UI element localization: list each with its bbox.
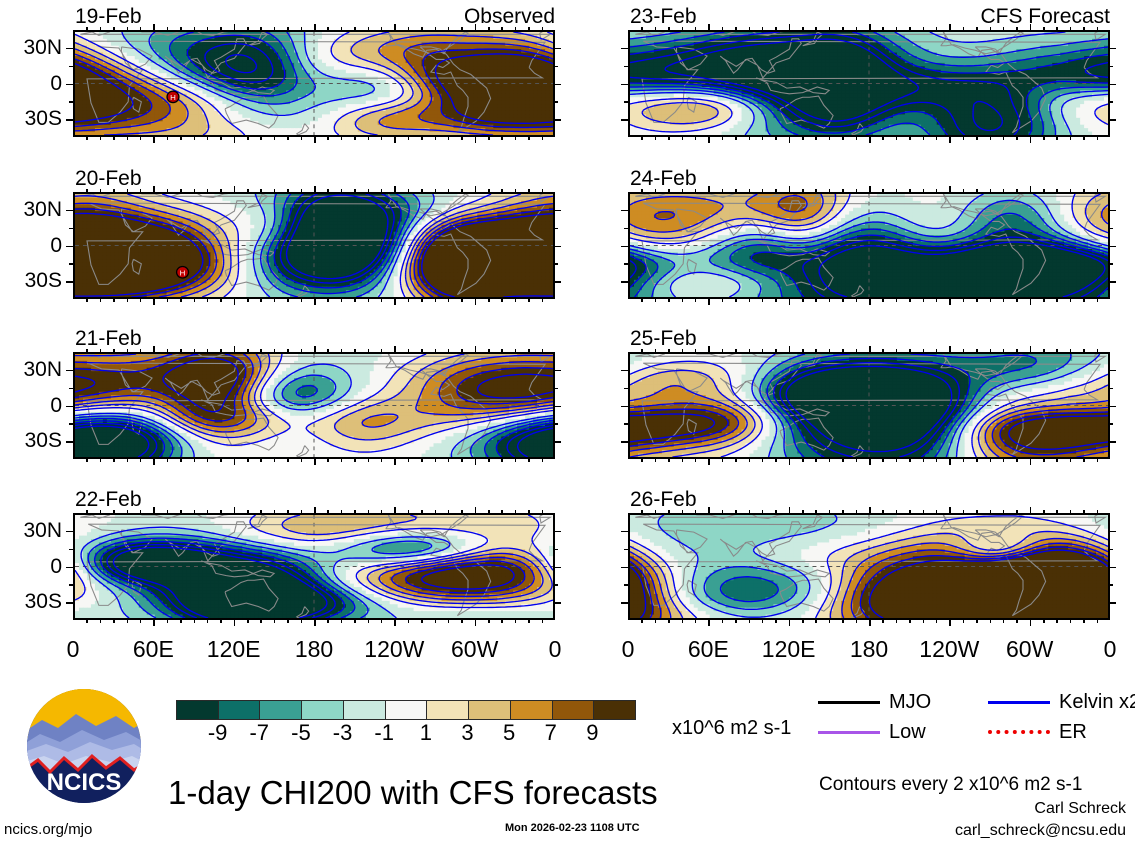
x-axis-label: 60E [108, 638, 198, 661]
colorbar-segment [385, 701, 427, 719]
x-axis-label: 120W [349, 638, 439, 661]
colorbar-segment [468, 701, 510, 719]
colorbar-segment [343, 701, 385, 719]
y-axis-label: 30S [0, 591, 62, 612]
timestamp: Mon 2026-02-23 1108 UTC [505, 823, 640, 834]
panel-date-label: 22-Feb [75, 489, 142, 510]
author-email: carl_schreck@ncsu.edu [955, 823, 1126, 839]
y-axis-label: 30N [0, 37, 62, 58]
y-axis-label: 30N [0, 520, 62, 541]
ncics-logo-label: NCICS [47, 769, 122, 796]
legend-label: ER [1059, 722, 1087, 742]
x-axis-label: 0 [28, 638, 118, 661]
legend-label: MJO [889, 692, 931, 712]
map-plot-area [628, 192, 1110, 299]
colorbar-segment [218, 701, 260, 719]
legend-entry-kelvin-x2: Kelvin x2 [988, 692, 1135, 712]
x-axis-label: 0 [1065, 638, 1135, 661]
x-axis-label: 0 [583, 638, 673, 661]
x-axis-label: 60W [985, 638, 1075, 661]
page-title: 1-day CHI200 with CFS forecasts [168, 776, 658, 809]
x-axis-label: 120E [744, 638, 834, 661]
legend-label: Kelvin x2 [1059, 692, 1135, 712]
colorbar-segment [552, 701, 594, 719]
legend-line-swatch [988, 701, 1050, 704]
colorbar-segment [301, 701, 343, 719]
colorbar-segment [177, 701, 218, 719]
contour-interval-note: Contours every 2 x10^6 m2 s-1 [819, 775, 1082, 794]
storm-marker: H [167, 91, 179, 103]
panel-date-label: 24-Feb [630, 168, 697, 189]
legend-line-swatch [988, 730, 1050, 734]
panel-date-label: 20-Feb [75, 168, 142, 189]
ncics-logo: NCICS [24, 686, 144, 806]
svg-text:H: H [170, 93, 176, 102]
site-url[interactable]: ncics.org/mjo [4, 822, 92, 837]
map-plot-area [73, 513, 555, 620]
y-axis-label: 0 [0, 235, 62, 256]
y-axis-label: 0 [0, 556, 62, 577]
map-plot-area [628, 513, 1110, 620]
map-plot-area: H [73, 30, 555, 137]
colorbar-segment [510, 701, 552, 719]
author-name: Carl Schreck [1034, 801, 1126, 817]
map-plot-area [73, 352, 555, 459]
y-axis-label: 30S [0, 270, 62, 291]
colorbar-segment [426, 701, 468, 719]
ncics-logo-graphic: NCICS [24, 686, 144, 806]
x-axis-label: 180 [824, 638, 914, 661]
x-axis-label: 120E [189, 638, 279, 661]
y-axis-label: 30S [0, 430, 62, 451]
panel-date-label: 25-Feb [630, 328, 697, 349]
x-axis-label: 60W [430, 638, 520, 661]
y-axis-label: 0 [0, 395, 62, 416]
colorbar-segment [593, 701, 635, 719]
x-axis-label: 120W [904, 638, 994, 661]
colorbar [176, 700, 636, 720]
x-axis-label: 180 [269, 638, 359, 661]
y-axis-label: 30S [0, 108, 62, 129]
legend-label: Low [889, 722, 926, 742]
legend-entry-er: ER [988, 722, 1087, 742]
y-axis-label: 0 [0, 73, 62, 94]
colorbar-tick-label: 9 [562, 722, 622, 744]
colorbar-unit-label: x10^6 m2 s-1 [672, 718, 791, 738]
legend-line-swatch [818, 731, 880, 734]
map-plot-area [628, 352, 1110, 459]
map-plot-area: H [73, 192, 555, 299]
y-axis-label: 30N [0, 199, 62, 220]
legend-entry-low: Low [818, 722, 926, 742]
storm-marker: H [177, 267, 189, 279]
legend-line-swatch [818, 701, 880, 704]
legend-entry-mjo: MJO [818, 692, 931, 712]
y-axis-label: 30N [0, 359, 62, 380]
colorbar-segment [259, 701, 301, 719]
panel-date-label: 26-Feb [630, 489, 697, 510]
panel-date-label: 21-Feb [75, 328, 142, 349]
x-axis-label: 60E [663, 638, 753, 661]
map-plot-area [628, 30, 1110, 137]
